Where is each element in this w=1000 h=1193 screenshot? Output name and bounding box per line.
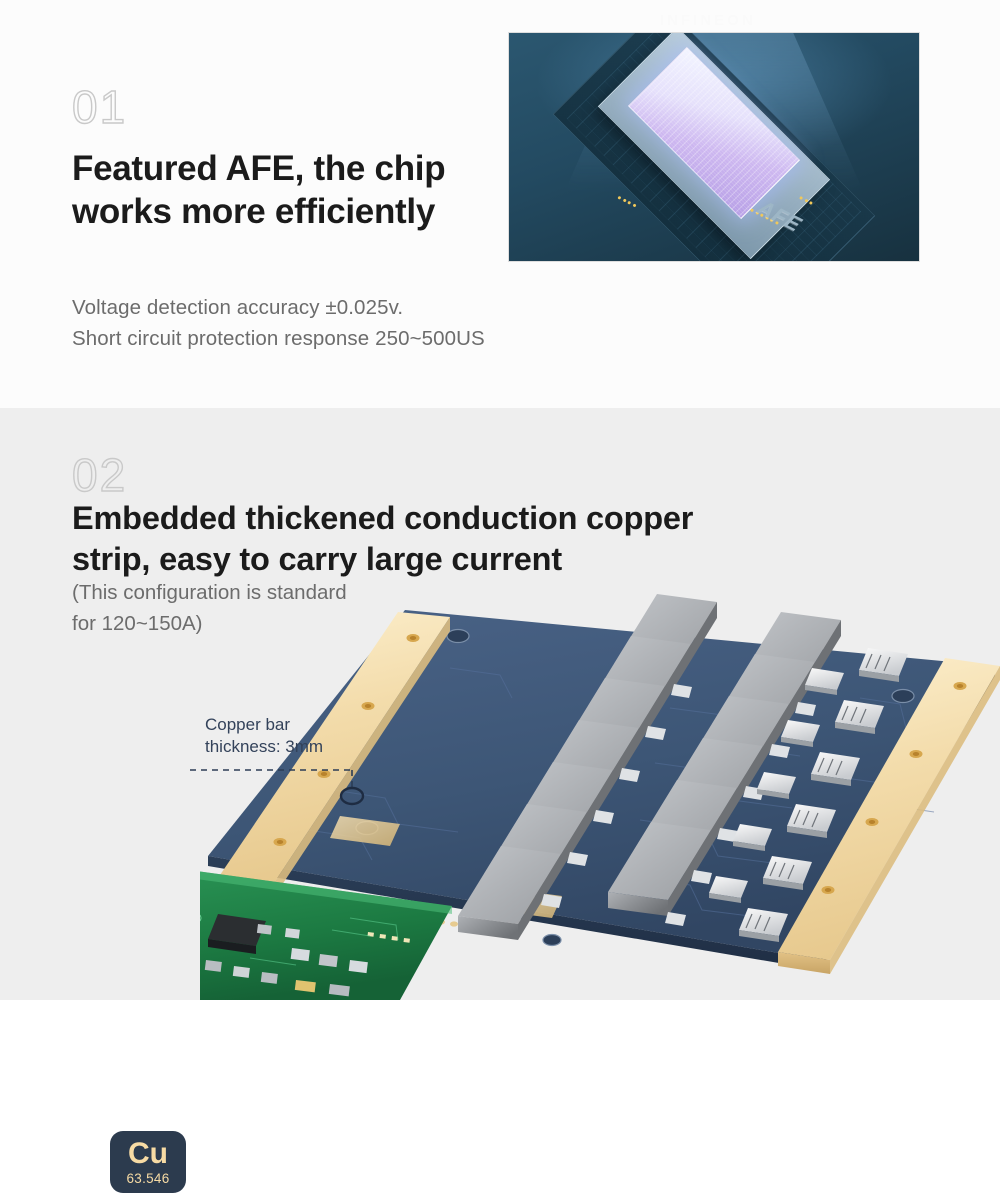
section-number-01: 01 xyxy=(72,84,127,130)
bms-board-svg xyxy=(200,588,1000,1000)
copper-element-badge: Cu 63.546 xyxy=(110,1131,186,1193)
section-copper-strip: 02 Embedded thickened conduction copper … xyxy=(0,408,1000,1000)
body-line: Short circuit protection response 250~50… xyxy=(72,324,832,355)
watermark-text: INFINEON xyxy=(660,12,756,29)
section-01-heading: Featured AFE, the chip works more effici… xyxy=(72,148,492,233)
heading-line: strip, easy to carry large current xyxy=(72,539,972,580)
element-atomic-mass: 63.546 xyxy=(126,1172,169,1186)
callout-text: Copper bar thickness: 3mm xyxy=(205,714,465,758)
callout-line: Copper bar xyxy=(205,714,465,736)
section-number-02: 02 xyxy=(72,452,127,498)
afe-chip-image: AFE xyxy=(508,32,920,262)
section-featured-afe: INFINEON 01 Featured AFE, the chip works… xyxy=(0,0,1000,408)
heading-line: Featured AFE, the xyxy=(72,149,365,188)
callout-line: thickness: 3mm xyxy=(205,736,465,758)
heading-line: Embedded thickened conduction copper xyxy=(72,498,972,539)
section-01-body: Voltage detection accuracy ±0.025v. Shor… xyxy=(72,293,832,355)
heading-line: efficiently xyxy=(275,192,435,231)
section-02-heading: Embedded thickened conduction copper str… xyxy=(72,498,972,581)
body-line: Voltage detection accuracy ±0.025v. xyxy=(72,293,832,324)
chip-scene: AFE xyxy=(509,33,919,261)
contact-dots-left xyxy=(617,196,636,208)
element-symbol: Cu xyxy=(128,1139,168,1169)
bms-board-image xyxy=(200,588,1000,1000)
